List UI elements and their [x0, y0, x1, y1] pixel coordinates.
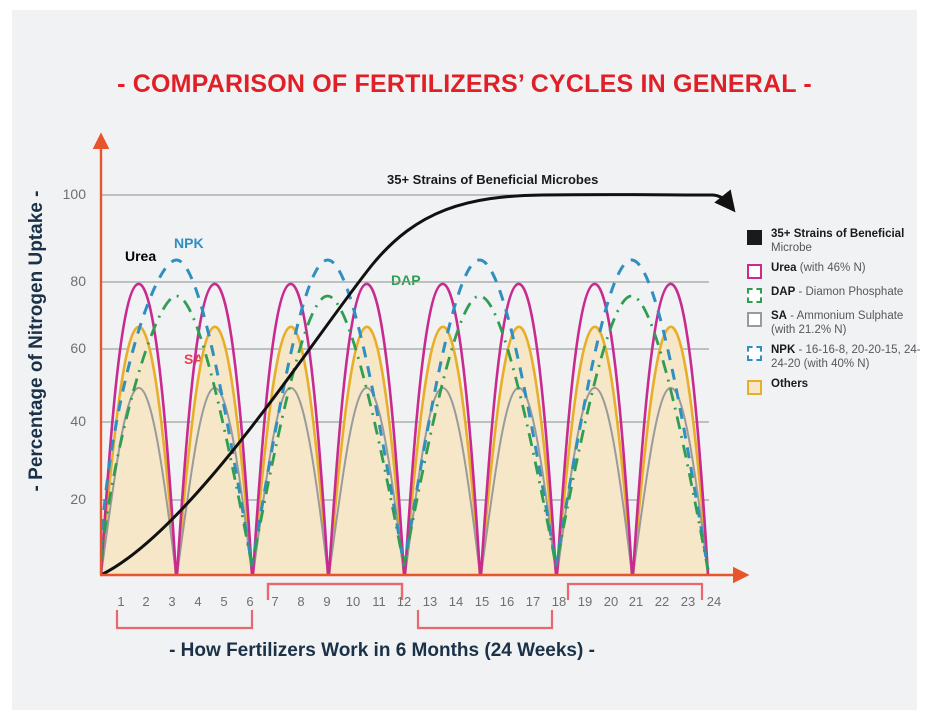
x-tick-2: 2 — [135, 594, 157, 609]
legend-item-dap[interactable]: DAP - Diamon Phosphate — [747, 286, 922, 303]
x-tick-15: 15 — [471, 594, 493, 609]
legend-label-others: Others — [771, 378, 808, 390]
x-tick-21: 21 — [625, 594, 647, 609]
x-tick-24: 24 — [703, 594, 725, 609]
square-dashed-blue-icon — [747, 346, 762, 361]
x-tick-20: 20 — [600, 594, 622, 609]
x-tick-5: 5 — [213, 594, 235, 609]
x-tick-9: 9 — [316, 594, 338, 609]
x-tick-6: 6 — [239, 594, 261, 609]
legend-item-urea[interactable]: Urea (with 46% N) — [747, 262, 922, 279]
series-others-area — [101, 327, 708, 575]
legend-item-others[interactable]: Others — [747, 378, 922, 395]
legend-label-npk: NPK — [771, 344, 795, 356]
x-tick-4: 4 — [187, 594, 209, 609]
x-tick-19: 19 — [574, 594, 596, 609]
week-brackets-below-extra — [568, 610, 702, 628]
x-tick-3: 3 — [161, 594, 183, 609]
legend-label-dap: DAP — [771, 286, 795, 298]
x-tick-1: 1 — [110, 594, 132, 609]
x-tick-12: 12 — [393, 594, 415, 609]
legend-item-sa[interactable]: SA - Ammonium Sulphate (with 21.2% N) — [747, 310, 922, 337]
square-dashed-green-icon — [747, 288, 762, 303]
square-outline-gray-icon — [747, 312, 762, 327]
x-tick-13: 13 — [419, 594, 441, 609]
chart-legend: 35+ Strains of Beneficial Microbe Urea (… — [747, 228, 922, 402]
square-solid-black-icon — [747, 230, 762, 245]
x-tick-22: 22 — [651, 594, 673, 609]
x-tick-23: 23 — [677, 594, 699, 609]
legend-item-npk[interactable]: NPK - 16-16-8, 20-20-15, 24-24-20 (with … — [747, 344, 922, 371]
x-tick-8: 8 — [290, 594, 312, 609]
square-outline-magenta-icon — [747, 264, 762, 279]
x-tick-14: 14 — [445, 594, 467, 609]
x-tick-7: 7 — [264, 594, 286, 609]
x-tick-18: 18 — [548, 594, 570, 609]
infographic-card: - COMPARISON OF FERTILIZERS’ CYCLES IN G… — [12, 10, 917, 710]
legend-label-sa: SA — [771, 310, 787, 322]
square-filled-gold-icon — [747, 380, 762, 395]
legend-item-microbe[interactable]: 35+ Strains of Beneficial Microbe — [747, 228, 922, 255]
x-tick-17: 17 — [522, 594, 544, 609]
x-tick-16: 16 — [496, 594, 518, 609]
legend-label-microbe: 35+ Strains of Beneficial — [771, 228, 904, 240]
x-tick-10: 10 — [342, 594, 364, 609]
legend-label-urea: Urea — [771, 262, 797, 274]
x-tick-11: 11 — [368, 594, 390, 609]
